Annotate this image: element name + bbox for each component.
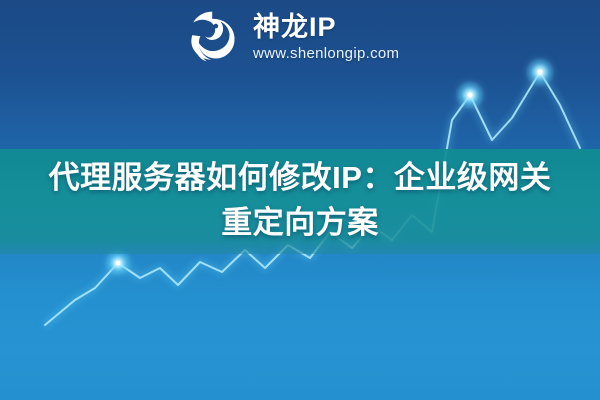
title-line-1: 代理服务器如何修改IP：企业级网关 (49, 160, 552, 195)
promo-banner: 神龙IP www.shenlongip.com 代理服务器如何修改IP：企业级网… (0, 0, 600, 400)
dragon-head-icon (185, 8, 243, 66)
brand-logo: 神龙IP www.shenlongip.com (185, 6, 435, 68)
brand-text-group: 神龙IP www.shenlongip.com (253, 14, 399, 61)
brand-website: www.shenlongip.com (253, 46, 399, 61)
title-line-2: 重定向方案 (14, 200, 586, 245)
page-title: 代理服务器如何修改IP：企业级网关 重定向方案 (0, 155, 600, 245)
brand-name: 神龙IP (253, 14, 399, 41)
